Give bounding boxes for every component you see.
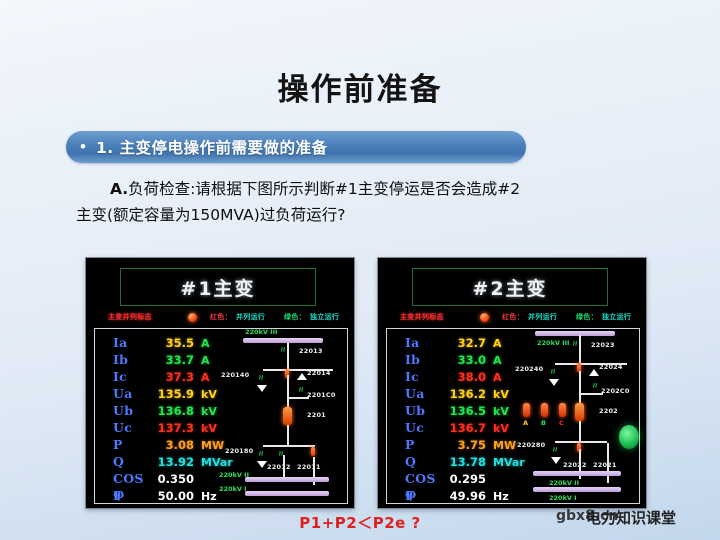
measurement-value: 136.7 xyxy=(438,421,486,435)
measurement-row: Ia32.7A xyxy=(405,335,533,352)
arrester-icon-a xyxy=(523,403,530,417)
measurement-value: 137.3 xyxy=(146,421,194,435)
measurement-value: 0.295 xyxy=(438,472,486,486)
body-paragraph: A.负荷检查:请根据下图所示判断#1主变停运是否会造成#2 主变(额定容量为15… xyxy=(76,176,666,228)
diagram-line xyxy=(579,371,581,405)
phase-label-a: A xyxy=(523,419,528,427)
measurement-row: Ub136.8kV xyxy=(113,403,241,420)
measurement-value: 32.7 xyxy=(438,336,486,350)
up-arrow-icon xyxy=(297,373,307,380)
measurement-row: COS φ0.295 xyxy=(405,471,533,488)
bullet-icon: • xyxy=(80,138,86,155)
measurement-name: Ia xyxy=(405,335,438,350)
measurement-row: Ua136.2kV xyxy=(405,386,533,403)
device-label: 220280 xyxy=(517,441,545,449)
measurement-name: Ub xyxy=(113,403,146,418)
hmi-screen-2: #2主变 主变并列标志 红色： 并列运行 绿色： 独立运行 Ia32.7A Ib… xyxy=(378,258,646,508)
measurement-row: Q13.92MVar xyxy=(113,454,241,471)
body-line-1: 负荷检查:请根据下图所示判断#1主变停运是否会造成#2 xyxy=(128,180,520,198)
measurement-value: 13.78 xyxy=(438,455,486,469)
device-label: 2201C0 xyxy=(307,391,336,399)
indicator-lamp-icon xyxy=(188,313,197,322)
measurement-name: Ua xyxy=(113,386,146,401)
diagram-line xyxy=(289,397,309,399)
measurement-value: 136.5 xyxy=(438,404,486,418)
parallel-flag-label: 主变并列标志 xyxy=(400,312,444,322)
panel-2-legend: 主变并列标志 红色： 并列运行 绿色： 独立运行 xyxy=(390,312,634,325)
measurement-unit: A xyxy=(486,371,502,384)
arrester-icon-b xyxy=(541,403,548,417)
measurement-value: 13.92 xyxy=(146,455,194,469)
section-banner-label: 1. 主变停电操作前需要做的准备 xyxy=(96,136,328,158)
measurement-value: 33.7 xyxy=(146,353,194,367)
legend-red-meaning: 并列运行 xyxy=(236,312,265,322)
device-label: 22023 xyxy=(591,341,615,349)
slide-canvas: 操作前准备 • 1. 主变停电操作前需要做的准备 A.负荷检查:请根据下图所示判… xyxy=(0,0,720,540)
measurement-name: F xyxy=(405,488,438,503)
legend-green-meaning: 独立运行 xyxy=(602,312,631,322)
measurement-unit: A xyxy=(194,354,210,367)
legend-red-label: 红色： xyxy=(210,312,232,322)
disconnector-icon: ≈ xyxy=(571,341,579,345)
up-arrow-icon xyxy=(589,369,599,376)
earth-arrow-icon xyxy=(549,379,559,386)
measurement-name: Ia xyxy=(113,335,146,350)
earth-switch-icon: ≈ xyxy=(551,447,559,451)
disconnector-icon: ≈ xyxy=(297,387,305,391)
measurement-value: 35.5 xyxy=(146,336,194,350)
device-label: 22014 xyxy=(307,369,331,377)
panel-1-inner-frame: Ia35.5A Ib33.7A Ic37.3A Ua135.9kV Ub136.… xyxy=(94,328,348,504)
measurement-value: 136.2 xyxy=(438,387,486,401)
busbar-ii xyxy=(245,477,329,482)
hmi-screen-1: #1主变 主变并列标志 红色： 并列运行 绿色： 独立运行 Ia35.5A Ib… xyxy=(86,258,354,508)
panel-2-header-box: #2主变 xyxy=(412,268,608,306)
device-label: 2202 xyxy=(599,407,618,415)
diagram-line xyxy=(581,393,603,395)
measurement-name: F xyxy=(113,488,146,503)
phase-label-c: C xyxy=(559,419,564,427)
photo-panel-2: #2主变 主变并列标志 红色： 并列运行 绿色： 独立运行 Ia32.7A Ib… xyxy=(378,258,646,508)
measurement-name: Q xyxy=(113,454,146,469)
device-label: 220140 xyxy=(221,371,249,379)
measurement-value: 0.350 xyxy=(146,472,194,486)
measurement-row: Ib33.7A xyxy=(113,352,241,369)
device-label: 22011 xyxy=(297,463,321,471)
device-label: 22021 xyxy=(593,461,617,469)
transformer-icon xyxy=(575,403,584,421)
measurement-value: 3.08 xyxy=(146,438,194,452)
measurement-name: Uc xyxy=(113,420,146,435)
transformer-icon xyxy=(283,407,292,425)
earth-arrow-icon xyxy=(257,385,267,392)
measurement-unit: kV xyxy=(194,405,217,418)
measurement-value: 49.96 xyxy=(438,489,486,503)
disconnector-icon: ≈ xyxy=(591,383,599,387)
measurement-unit: kV xyxy=(194,388,217,401)
measurement-row: P3.75MW xyxy=(405,437,533,454)
panel-1-legend: 主变并列标志 红色： 并列运行 绿色： 独立运行 xyxy=(98,312,342,325)
measurement-name: Ib xyxy=(405,352,438,367)
measurement-value: 3.75 xyxy=(438,438,486,452)
measurement-row: Uc136.7kV xyxy=(405,420,533,437)
panel-2-inner-frame: Ia32.7A Ib33.0A Ic38.0A Ua136.2kV Ub136.… xyxy=(386,328,640,504)
body-item-label: A. xyxy=(110,180,128,198)
diagram-line xyxy=(555,441,607,443)
earth-arrow-icon xyxy=(551,457,561,464)
status-indicator-green xyxy=(619,425,639,449)
measurement-name: Ic xyxy=(405,369,438,384)
measurement-unit: MW xyxy=(194,439,224,452)
earth-switch-icon: ≈ xyxy=(257,375,265,379)
bus-label-i: 220kV I xyxy=(219,485,247,493)
measurement-value: 50.00 xyxy=(146,489,194,503)
device-label: 2201 xyxy=(307,411,326,419)
watermark-brand: 电力知识课堂 xyxy=(586,507,676,528)
earth-switch-icon: ≈ xyxy=(549,369,557,373)
body-line-2: 主变(额定容量为150MVA)过负荷运行? xyxy=(76,202,666,228)
measurement-name: P xyxy=(113,437,146,452)
measurement-unit: MW xyxy=(486,439,516,452)
measurement-name: Q xyxy=(405,454,438,469)
measurement-unit: A xyxy=(194,371,210,384)
measurement-unit: Hz xyxy=(486,490,509,503)
measurement-name: Ib xyxy=(113,352,146,367)
device-label: 22024 xyxy=(599,363,623,371)
diagram-line xyxy=(287,425,289,447)
measurement-name: Ua xyxy=(405,386,438,401)
device-label: 2202C0 xyxy=(601,387,630,395)
legend-red-label: 红色： xyxy=(502,312,524,322)
legend-red-meaning: 并列运行 xyxy=(528,312,557,322)
measurement-value: 38.0 xyxy=(438,370,486,384)
bus-label-iii: 220kV III xyxy=(537,339,569,347)
busbar-i xyxy=(533,487,621,492)
diagram-line xyxy=(579,421,581,443)
phase-label-b: B xyxy=(541,419,546,427)
measurement-row: F49.96Hz xyxy=(405,488,533,505)
measurement-unit: kV xyxy=(486,422,509,435)
parallel-flag-label: 主变并列标志 xyxy=(108,312,152,322)
measurement-name: Ub xyxy=(405,403,438,418)
legend-green-label: 绿色： xyxy=(576,312,598,322)
measurement-row: Ia35.5A xyxy=(113,335,241,352)
legend-green-label: 绿色： xyxy=(284,312,306,322)
measurement-value: 33.0 xyxy=(438,353,486,367)
measurement-name: Ic xyxy=(113,369,146,384)
busbar-i xyxy=(245,491,329,496)
device-label: 22022 xyxy=(563,461,587,469)
measurement-value: 136.8 xyxy=(146,404,194,418)
measurement-row: Ub136.5kV xyxy=(405,403,533,420)
watermark: gbx8.cn 电力知识课堂 xyxy=(556,506,716,528)
device-label: 22013 xyxy=(299,347,323,355)
panel-2-single-line-diagram: 220kV III ≈ 22023 ≈ 220240 22024 ≈ 2202C… xyxy=(519,329,637,501)
measurement-unit: kV xyxy=(486,388,509,401)
diagram-line xyxy=(263,445,315,447)
measurement-name: Uc xyxy=(405,420,438,435)
page-title: 操作前准备 xyxy=(0,64,720,109)
measurement-row: Ib33.0A xyxy=(405,352,533,369)
measurement-value: 135.9 xyxy=(146,387,194,401)
measurement-unit: kV xyxy=(194,422,217,435)
earth-switch-icon: ≈ xyxy=(257,451,265,455)
measurement-unit: kV xyxy=(486,405,509,418)
measurement-row: Q13.78MVar xyxy=(405,454,533,471)
section-banner: • 1. 主变停电操作前需要做的准备 xyxy=(66,131,526,163)
measurement-unit: A xyxy=(486,337,502,350)
bus-label-iii: 220kV III xyxy=(245,328,277,336)
busbar-iii xyxy=(243,338,323,343)
measurement-row: Uc137.3kV xyxy=(113,420,241,437)
measurement-unit: A xyxy=(194,337,210,350)
bus-label-i: 220kV I xyxy=(549,494,577,502)
panel-1-measurement-table: Ia35.5A Ib33.7A Ic37.3A Ua135.9kV Ub136.… xyxy=(113,335,241,505)
measurement-unit: Hz xyxy=(194,490,217,503)
busbar-iii xyxy=(535,331,615,336)
earth-arrow-icon xyxy=(257,461,267,468)
indicator-lamp-icon xyxy=(480,313,489,322)
breaker-icon xyxy=(311,447,315,456)
measurement-unit: A xyxy=(486,354,502,367)
measurement-row: P3.08MW xyxy=(113,437,241,454)
panel-2-measurement-table: Ia32.7A Ib33.0A Ic38.0A Ua136.2kV Ub136.… xyxy=(405,335,533,505)
arrester-icon-c xyxy=(559,403,566,417)
measurement-name: P xyxy=(405,437,438,452)
measurement-row: Ua135.9kV xyxy=(113,386,241,403)
panel-1-header-box: #1主变 xyxy=(120,268,316,306)
panel-2-header-label: #2主变 xyxy=(472,274,547,301)
diagram-line xyxy=(283,455,285,477)
photo-panel-1: #1主变 主变并列标志 红色： 并列运行 绿色： 独立运行 Ia35.5A Ib… xyxy=(86,258,354,508)
measurement-value: 37.3 xyxy=(146,370,194,384)
panel-1-single-line-diagram: 220kV III ≈ 22013 ≈ 220140 22014 ≈ 2201C… xyxy=(227,329,345,501)
disconnector-icon: ≈ xyxy=(279,347,287,351)
device-label: 22012 xyxy=(267,463,291,471)
measurement-row: Ic38.0A xyxy=(405,369,533,386)
device-label: 220240 xyxy=(515,365,543,373)
diagram-line xyxy=(287,375,289,407)
legend-green-meaning: 独立运行 xyxy=(310,312,339,322)
busbar-ii xyxy=(533,471,621,476)
panel-1-header-label: #1主变 xyxy=(180,274,255,301)
bus-label-ii: 220kV II xyxy=(549,479,579,487)
device-label: 220180 xyxy=(225,447,253,455)
diagram-line xyxy=(607,443,609,483)
